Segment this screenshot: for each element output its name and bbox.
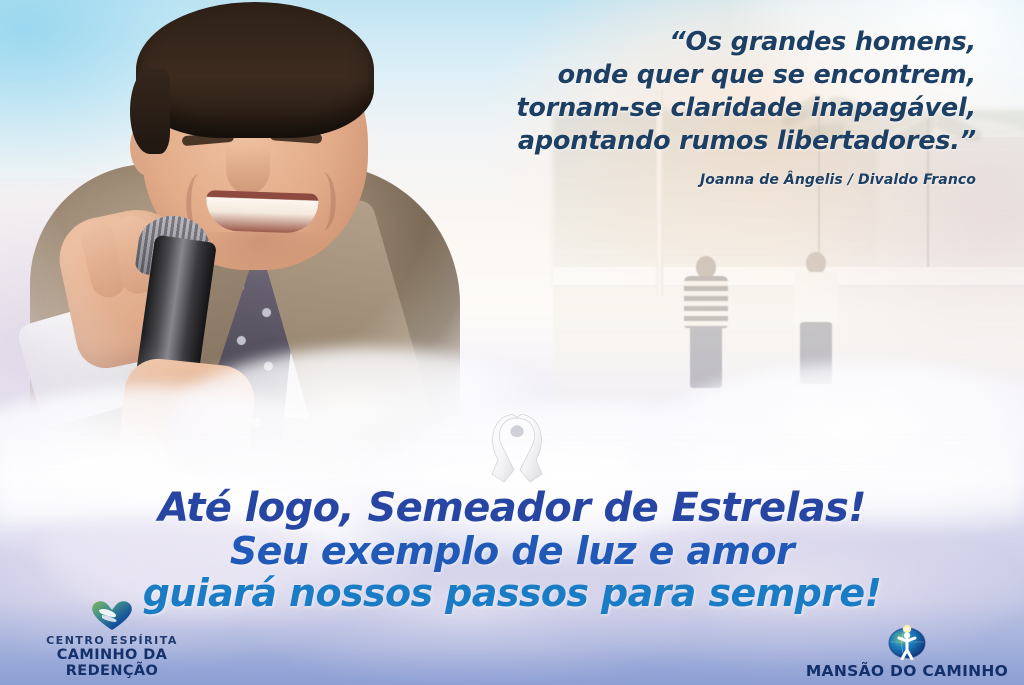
headline-line-1: Até logo, Semeador de Estrelas! (0, 486, 1024, 530)
hair (136, 2, 374, 138)
headline-block: Até logo, Semeador de Estrelas! Seu exem… (0, 486, 1024, 614)
nose (226, 146, 270, 194)
quote-text: “Os grandes homens, onde quer que se enc… (376, 26, 976, 158)
quote-line-1: “Os grandes homens, (376, 26, 976, 59)
smiling-mouth (205, 190, 318, 234)
globe-figure-icon (886, 622, 928, 660)
chin-shadow (196, 232, 326, 276)
logo-mansao-do-caminho: MANSÃO DO CAMINHO (802, 622, 1012, 679)
quote-line-4: apontando rumos libertadores.” (376, 125, 976, 158)
hair-sideburn (130, 68, 170, 154)
logo-right-line-2: MANSÃO DO CAMINHO (802, 663, 1012, 679)
person-head (806, 252, 826, 274)
logo-centro-espirita: CENTRO ESPÍRITA CAMINHO DA REDENÇÃO (12, 599, 212, 679)
heart-hands-icon (89, 599, 135, 631)
white-ribbon-icon (484, 412, 550, 488)
quote-line-3: tornam-se claridade inapagável, (376, 92, 976, 125)
quote-line-2: onde quer que se encontrem, (376, 59, 976, 92)
headline-line-2: Seu exemplo de luz e amor (0, 530, 1024, 572)
quote-attribution: Joanna de Ângelis / Divaldo Franco (376, 172, 976, 188)
logo-left-line-1: CENTRO ESPÍRITA (12, 634, 212, 647)
logo-left-line-2: CAMINHO DA REDENÇÃO (12, 647, 212, 679)
memorial-poster: “Os grandes homens, onde quer que se enc… (0, 0, 1024, 685)
person-head (696, 256, 716, 278)
